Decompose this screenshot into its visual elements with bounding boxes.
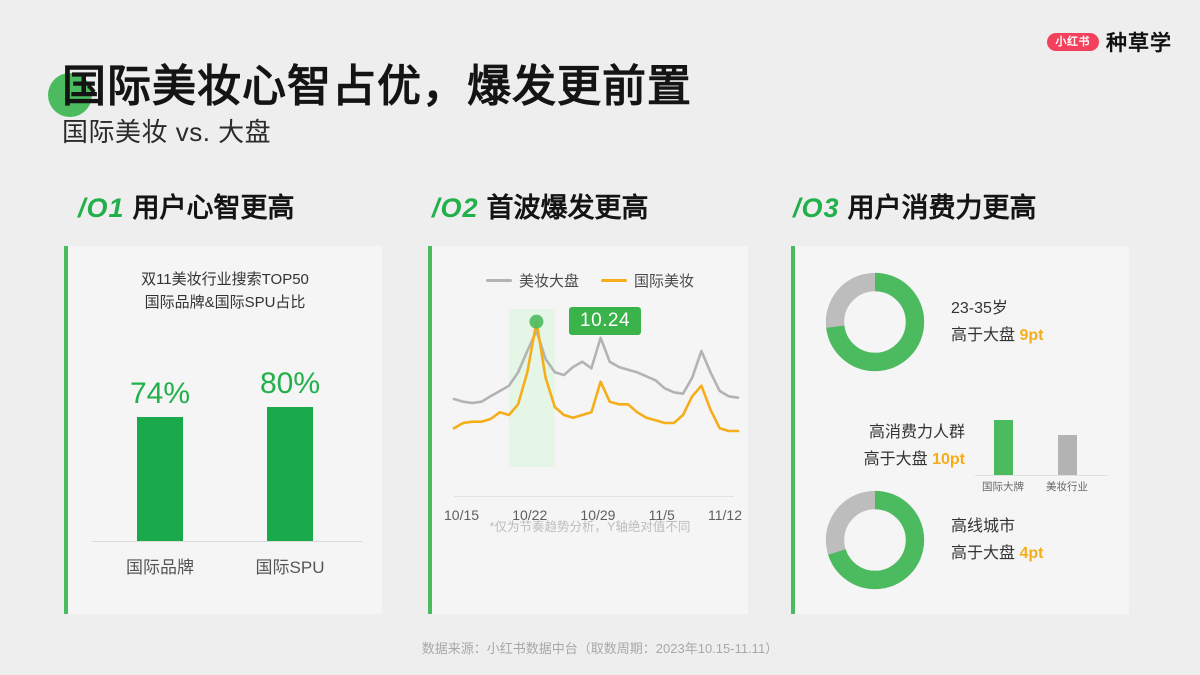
bar-chart-baseline <box>92 541 362 542</box>
line-chart-x-ticks: 10/1510/2210/2911/511/12 <box>444 507 742 523</box>
card-consumption-power: 23-35岁 高于大盘 9pt 高消费力人群 高于大盘 10pt 国际大牌 美妆… <box>791 246 1129 614</box>
section-header-1: /O1用户心智更高 <box>78 186 295 225</box>
section-label-1: 用户心智更高 <box>133 193 295 223</box>
bar-0 <box>137 417 183 541</box>
bar-group-0: 74% <box>110 377 210 541</box>
card1-title-line2: 国际品牌&国际SPU占比 <box>68 291 382 314</box>
line-chart: 10.24 *仅为节奏趋势分析，Y轴绝对值不同 10/1510/2210/291… <box>432 297 748 527</box>
mini-bar-label-1: 美妆行业 <box>1036 479 1098 494</box>
legend-swatch-yellow-icon <box>601 279 627 282</box>
stat-spending-line1: 高消费力人群 <box>817 419 965 446</box>
stat-city-prefix: 高于大盘 <box>951 545 1019 562</box>
brand-name: 种草学 <box>1106 27 1172 57</box>
card1-title-line1: 双11美妆行业搜索TOP50 <box>68 268 382 291</box>
section-label-3: 用户消费力更高 <box>848 193 1037 223</box>
mini-bar-baseline <box>975 475 1107 476</box>
card-first-wave-peak: 美妆大盘 国际美妆 10.24 *仅为节奏趋势分析，Y轴绝对值不同 10/151… <box>428 246 748 614</box>
stat-age-value: 9pt <box>1019 327 1043 344</box>
mini-bar-group-0 <box>975 420 1031 476</box>
stat-age-text: 23-35岁 高于大盘 9pt <box>951 295 1043 349</box>
mini-bar-group-1 <box>1039 435 1095 476</box>
line-chart-legend: 美妆大盘 国际美妆 <box>432 270 748 291</box>
stat-spending-prefix: 高于大盘 <box>864 451 932 468</box>
stat-city-line1: 高线城市 <box>951 513 1043 540</box>
data-source-footer: 数据来源：小红书数据中台（取数周期：2023年10.15-11.11） <box>0 638 1200 657</box>
line-chart-axis <box>454 496 734 497</box>
legend-label-1: 国际美妆 <box>634 270 694 291</box>
section-number-2: /O2 <box>432 193 479 223</box>
bar-value-1: 80% <box>240 367 340 401</box>
card1-bar-chart: 74% 80% 国际品牌 国际SPU <box>68 329 382 594</box>
page-title: 国际美妆心智占优，爆发更前置 <box>62 50 692 114</box>
section-number-1: /O1 <box>78 193 125 223</box>
donut-chart-city <box>821 486 929 594</box>
donut-chart-age <box>821 268 929 376</box>
bar-value-0: 74% <box>110 377 210 411</box>
legend-label-0: 美妆大盘 <box>519 270 579 291</box>
mini-bar-1 <box>1058 435 1077 476</box>
stat-block-city: 高线城市 高于大盘 4pt <box>821 486 1043 594</box>
section-header-2: /O2首波爆发更高 <box>432 186 649 225</box>
x-tick: 11/12 <box>708 507 742 523</box>
brand-logo: 小红书 种草学 <box>1047 27 1173 57</box>
stat-block-age: 23-35岁 高于大盘 9pt <box>821 268 1043 376</box>
card1-title: 双11美妆行业搜索TOP50 国际品牌&国际SPU占比 <box>68 268 382 315</box>
bar-group-1: 80% <box>240 367 340 541</box>
section-header-3: /O3用户消费力更高 <box>793 186 1037 225</box>
stat-age-prefix: 高于大盘 <box>951 327 1019 344</box>
mini-bar-0 <box>994 420 1013 476</box>
section-label-2: 首波爆发更高 <box>487 193 649 223</box>
x-tick: 11/5 <box>649 507 675 523</box>
page-subtitle: 国际美妆 vs. 大盘 <box>62 112 271 149</box>
x-tick: 10/15 <box>444 507 479 523</box>
bar-category-1: 国际SPU <box>235 553 345 578</box>
stat-spending-value: 10pt <box>932 451 965 468</box>
stat-age-line2: 高于大盘 9pt <box>951 322 1043 349</box>
bar-1 <box>267 407 313 541</box>
legend-item-0: 美妆大盘 <box>486 270 579 291</box>
mini-bar-chart: 国际大牌 美妆行业 <box>975 396 1107 496</box>
stat-spending-text: 高消费力人群 高于大盘 10pt <box>817 419 965 473</box>
stat-city-text: 高线城市 高于大盘 4pt <box>951 513 1043 567</box>
stat-city-line2: 高于大盘 4pt <box>951 540 1043 567</box>
stat-block-spending: 高消费力人群 高于大盘 10pt 国际大牌 美妆行业 <box>817 396 1117 496</box>
legend-item-1: 国际美妆 <box>601 270 694 291</box>
stat-spending-line2: 高于大盘 10pt <box>817 446 965 473</box>
x-tick: 10/22 <box>512 507 547 523</box>
x-tick: 10/29 <box>580 507 615 523</box>
stat-city-value: 4pt <box>1019 545 1043 562</box>
xiaohongshu-badge: 小红书 <box>1047 33 1100 51</box>
legend-swatch-gray-icon <box>486 279 512 282</box>
section-number-3: /O3 <box>793 193 840 223</box>
stat-age-line1: 23-35岁 <box>951 295 1043 322</box>
card-user-mindshare: 双11美妆行业搜索TOP50 国际品牌&国际SPU占比 74% 80% 国际品牌… <box>64 246 382 614</box>
peak-date-badge: 10.24 <box>569 307 641 335</box>
bar-category-0: 国际品牌 <box>105 553 215 578</box>
